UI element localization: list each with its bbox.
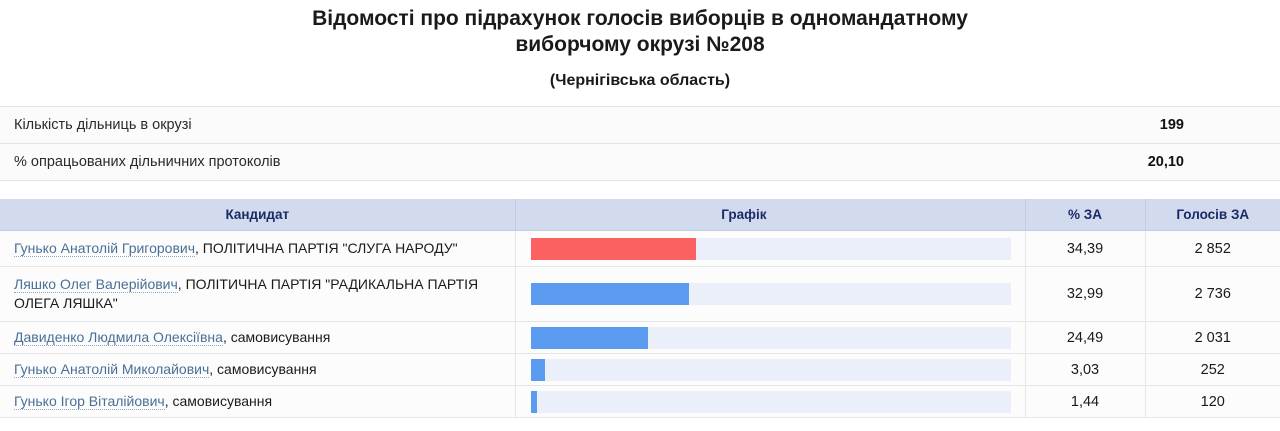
- page-title-line1: Відомості про підрахунок голосів виборці…: [312, 7, 968, 30]
- table-row: Гунько Анатолій Григорович, ПОЛІТИЧНА ПА…: [0, 231, 1280, 267]
- column-header-graph[interactable]: Графік: [515, 199, 1025, 231]
- summary-table-body: Кількість дільниць в окрузі 199 % опраць…: [0, 107, 1280, 181]
- candidate-cell: Гунько Анатолій Миколайович, самовисуван…: [0, 354, 515, 386]
- table-row: Гунько Ігор Віталійович, самовисування1,…: [0, 386, 1280, 418]
- bar-fill: [531, 391, 538, 413]
- table-row: Давиденко Людмила Олексіївна, самовисува…: [0, 322, 1280, 354]
- results-table: Кандидат Графік % ЗА Голосів ЗА Гунько А…: [0, 199, 1280, 418]
- candidate-party: самовисування: [173, 393, 273, 409]
- bar-track: [531, 359, 1011, 381]
- percent-cell: 3,03: [1025, 354, 1145, 386]
- graph-cell: [515, 322, 1025, 354]
- graph-cell: [515, 386, 1025, 418]
- candidate-separator: ,: [178, 276, 186, 292]
- summary-table: Кількість дільниць в окрузі 199 % опраць…: [0, 106, 1280, 181]
- results-header-row: Кандидат Графік % ЗА Голосів ЗА: [0, 199, 1280, 231]
- percent-cell: 32,99: [1025, 267, 1145, 322]
- results-table-head: Кандидат Графік % ЗА Голосів ЗА: [0, 199, 1280, 231]
- summary-label-processed: % опрацьованих дільничних протоколів: [0, 144, 884, 181]
- votes-cell: 252: [1145, 354, 1280, 386]
- candidate-cell: Давиденко Людмила Олексіївна, самовисува…: [0, 322, 515, 354]
- candidate-cell: Ляшко Олег Валерійович, ПОЛІТИЧНА ПАРТІЯ…: [0, 267, 515, 322]
- candidate-name-link[interactable]: Гунько Ігор Віталійович: [14, 393, 165, 410]
- column-header-percent[interactable]: % ЗА: [1025, 199, 1145, 231]
- page-header: Відомості про підрахунок голосів виборці…: [0, 0, 1280, 91]
- bar-track: [531, 238, 1011, 260]
- page-title-line2: виборчому окрузі №208: [515, 33, 764, 56]
- bar-fill: [531, 327, 649, 349]
- candidate-cell: Гунько Ігор Віталійович, самовисування: [0, 386, 515, 418]
- table-row: Гунько Анатолій Миколайович, самовисуван…: [0, 354, 1280, 386]
- page-subtitle: (Чернігівська область): [0, 71, 1280, 91]
- bar-track: [531, 283, 1011, 305]
- page-title: Відомості про підрахунок голосів виборці…: [200, 6, 1080, 58]
- votes-cell: 2 031: [1145, 322, 1280, 354]
- column-header-votes[interactable]: Голосів ЗА: [1145, 199, 1280, 231]
- candidate-party: ПОЛІТИЧНА ПАРТІЯ "СЛУГА НАРОДУ": [203, 240, 458, 256]
- candidate-separator: ,: [223, 329, 231, 345]
- bar-fill: [531, 238, 696, 260]
- summary-value-processed: 20,10: [884, 144, 1280, 181]
- candidate-separator: ,: [209, 361, 217, 377]
- candidate-party: самовисування: [231, 329, 331, 345]
- candidate-name-link[interactable]: Гунько Анатолій Миколайович: [14, 361, 209, 378]
- candidate-name-link[interactable]: Давиденко Людмила Олексіївна: [14, 329, 223, 346]
- candidate-name-link[interactable]: Гунько Анатолій Григорович: [14, 240, 195, 257]
- summary-row-precincts: Кількість дільниць в окрузі 199: [0, 107, 1280, 144]
- graph-cell: [515, 267, 1025, 322]
- percent-cell: 34,39: [1025, 231, 1145, 267]
- votes-cell: 2 736: [1145, 267, 1280, 322]
- bar-fill: [531, 359, 546, 381]
- votes-cell: 120: [1145, 386, 1280, 418]
- results-table-body: Гунько Анатолій Григорович, ПОЛІТИЧНА ПА…: [0, 231, 1280, 418]
- candidate-cell: Гунько Анатолій Григорович, ПОЛІТИЧНА ПА…: [0, 231, 515, 267]
- graph-cell: [515, 231, 1025, 267]
- summary-value-precincts: 199: [884, 107, 1280, 144]
- column-header-candidate[interactable]: Кандидат: [0, 199, 515, 231]
- bar-track: [531, 391, 1011, 413]
- graph-cell: [515, 354, 1025, 386]
- votes-cell: 2 852: [1145, 231, 1280, 267]
- summary-label-precincts: Кількість дільниць в окрузі: [0, 107, 884, 144]
- percent-cell: 24,49: [1025, 322, 1145, 354]
- summary-row-processed: % опрацьованих дільничних протоколів 20,…: [0, 144, 1280, 181]
- candidate-party: самовисування: [217, 361, 317, 377]
- candidate-separator: ,: [165, 393, 173, 409]
- candidate-name-link[interactable]: Ляшко Олег Валерійович: [14, 276, 178, 293]
- table-row: Ляшко Олег Валерійович, ПОЛІТИЧНА ПАРТІЯ…: [0, 267, 1280, 322]
- percent-cell: 1,44: [1025, 386, 1145, 418]
- candidate-separator: ,: [195, 240, 203, 256]
- bar-fill: [531, 283, 689, 305]
- bar-track: [531, 327, 1011, 349]
